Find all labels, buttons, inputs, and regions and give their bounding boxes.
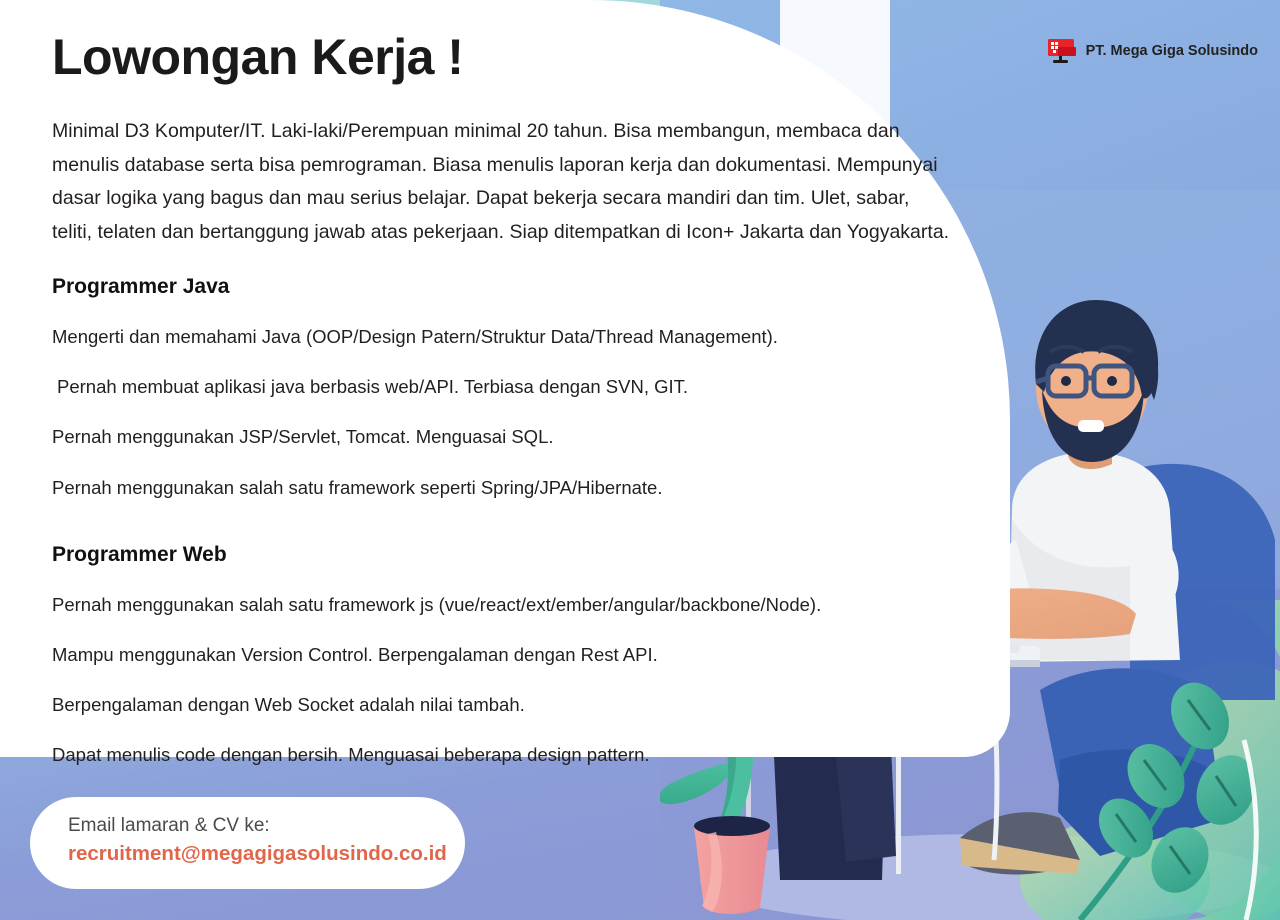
requirement-web-1: Pernah menggunakan salah satu framework …: [52, 593, 962, 616]
content-card: Lowongan Kerja ! Minimal D3 Komputer/IT.…: [0, 0, 1010, 757]
contact-label: Email lamaran & CV ke:: [68, 815, 447, 837]
brand-lockup: PT. Mega Giga Solusindo: [1047, 38, 1258, 64]
content-card-inner: Lowongan Kerja ! Minimal D3 Komputer/IT.…: [52, 30, 962, 793]
contact-pill-body: Email lamaran & CV ke: recruitment@megag…: [68, 815, 447, 866]
contact-pill: Email lamaran & CV ke: recruitment@megag…: [30, 797, 465, 889]
job-poster: Lowongan Kerja ! Minimal D3 Komputer/IT.…: [0, 0, 1280, 920]
page-title: Lowongan Kerja !: [52, 30, 962, 85]
intro-paragraph: Minimal D3 Komputer/IT. Laki-laki/Peremp…: [52, 115, 952, 249]
requirement-java-4: Pernah menggunakan salah satu framework …: [52, 476, 962, 499]
requirement-java-2: Pernah membuat aplikasi java berbasis we…: [52, 375, 962, 398]
contact-email[interactable]: recruitment@megagigasolusindo.co.id: [68, 842, 447, 866]
brand-name: PT. Mega Giga Solusindo: [1086, 43, 1258, 59]
requirement-web-2: Mampu menggunakan Version Control. Berpe…: [52, 643, 962, 666]
red-monitor-icon: [1047, 38, 1077, 64]
requirement-java-1: Mengerti dan memahami Java (OOP/Design P…: [52, 325, 962, 348]
requirement-web-3: Berpengalaman dengan Web Socket adalah n…: [52, 693, 962, 716]
requirement-java-3: Pernah menggunakan JSP/Servlet, Tomcat. …: [52, 425, 962, 448]
section-heading-web: Programmer Web: [52, 543, 962, 567]
requirement-web-4: Dapat menulis code dengan bersih. Mengua…: [52, 743, 962, 766]
section-heading-java: Programmer Java: [52, 275, 962, 299]
